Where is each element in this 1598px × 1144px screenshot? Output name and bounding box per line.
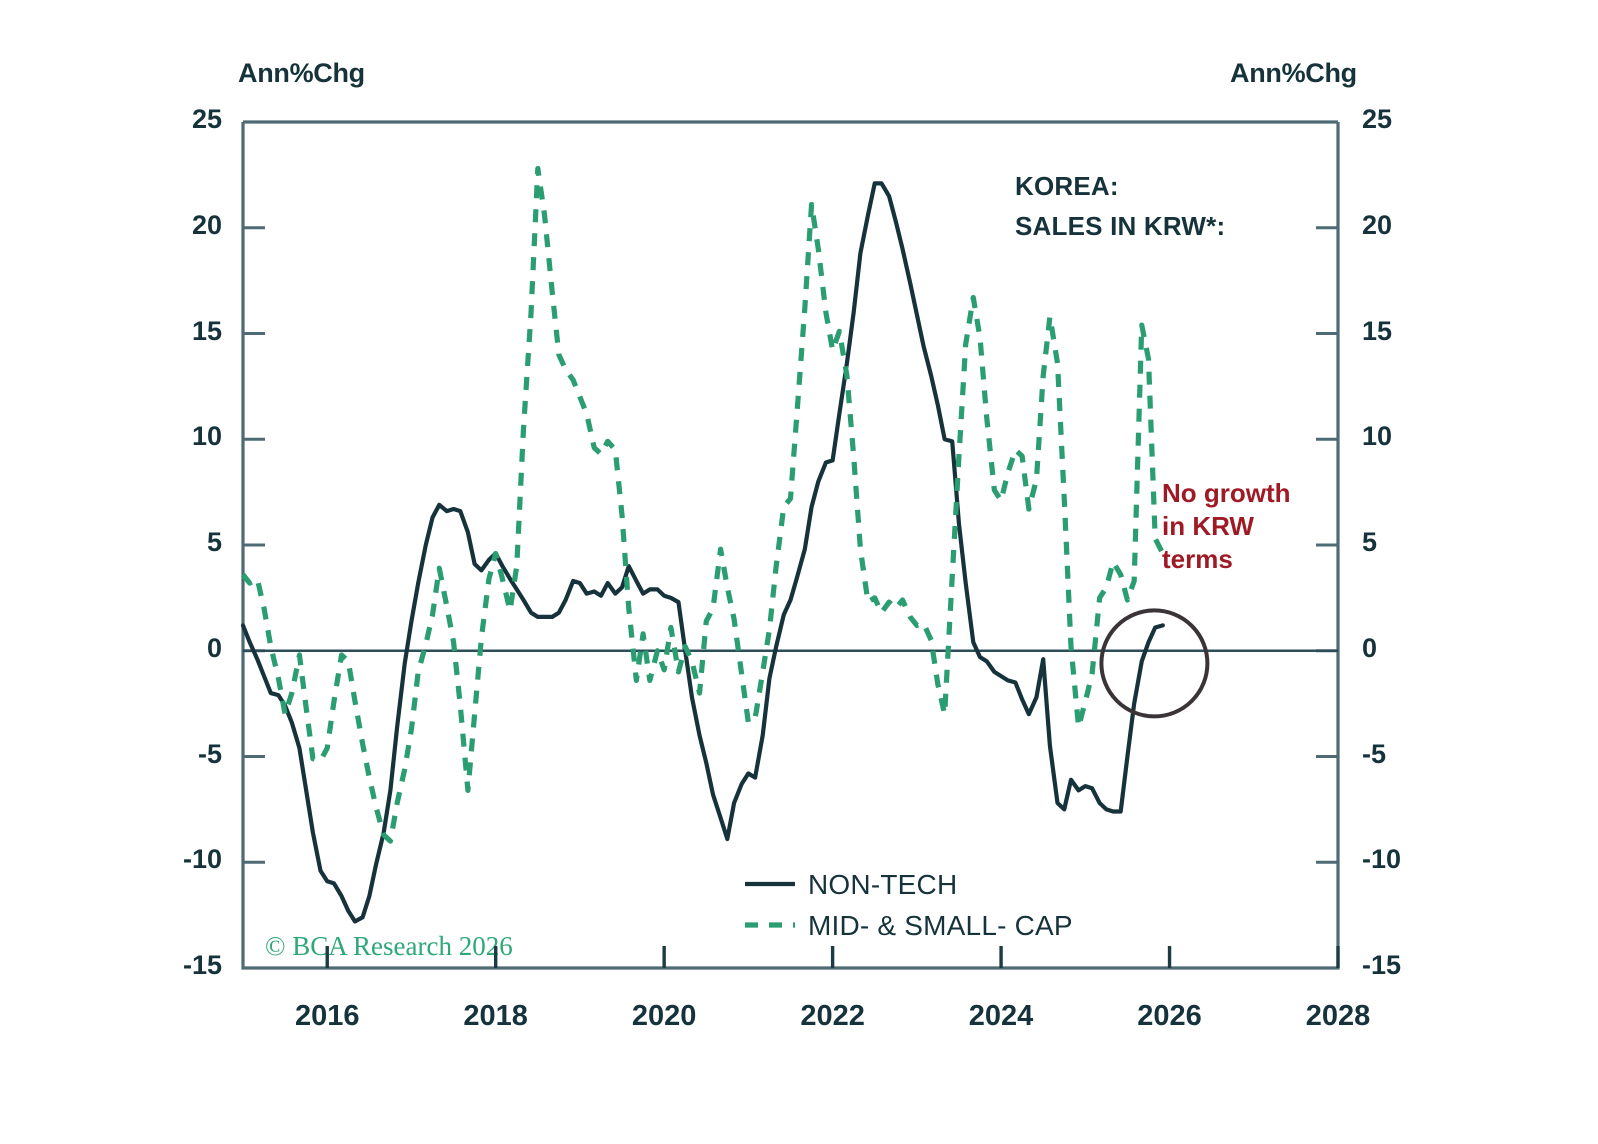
series-line-1 [243,169,1163,842]
chart-canvas: Ann%Chg Ann%Chg KOREA: SALES IN KRW*: No… [0,0,1598,1144]
plot-area [0,0,1598,1144]
legend-swatches [745,884,795,925]
axis-frame [243,122,1338,968]
series-line-0 [243,183,1163,921]
data-series [243,169,1163,922]
axis-ticks [243,122,1338,968]
axis-frame-path [243,122,1338,968]
